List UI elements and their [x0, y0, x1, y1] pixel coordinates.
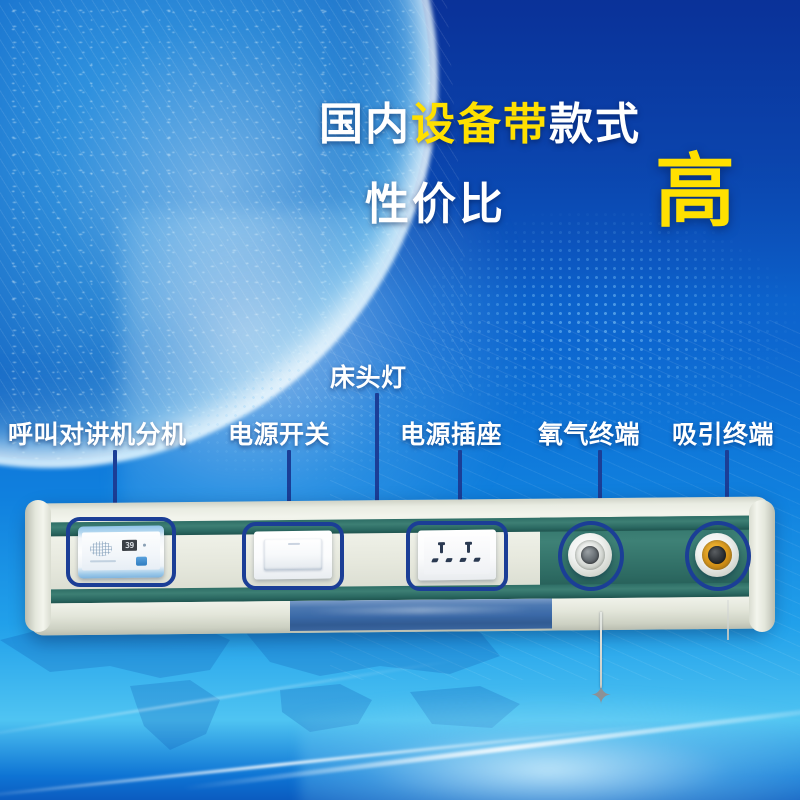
- callout-label-power-switch: 电源开关: [228, 415, 330, 451]
- panel-end-cap-right: [749, 500, 775, 632]
- headline-part-2-highlight: 设备带: [411, 99, 549, 150]
- halftone-dots-left: [150, 330, 450, 490]
- callout-label-bed-lamp: 床头灯: [330, 358, 407, 394]
- banner-stage: 国内设备带款式 性价比 高 呼叫对讲机分机 电源开关 床头灯 电源插座 氧气终端…: [0, 0, 800, 800]
- headline-line-1: 国内设备带款式: [280, 88, 680, 152]
- panel-end-cap-left: [25, 500, 51, 632]
- callout-label-oxygen-terminal: 氧气终端: [538, 415, 640, 451]
- highlight-circle-oxygen-terminal: [558, 521, 624, 591]
- highlight-box-intercom: [66, 517, 176, 587]
- headline-line-2: 性价比: [365, 168, 506, 232]
- callout-label-power-socket: 电源插座: [400, 415, 502, 451]
- suction-drain-tube: [727, 600, 729, 640]
- headline-part-1: 国内: [319, 99, 411, 150]
- headline-part-3: 款式: [549, 99, 641, 150]
- pull-cord-handle-icon[interactable]: ✦: [588, 682, 614, 708]
- highlight-box-power-switch: [242, 522, 344, 590]
- callout-label-suction-terminal: 吸引终端: [672, 415, 774, 451]
- headline-big-word: 高: [655, 152, 735, 232]
- bed-lamp-strip[interactable]: [290, 599, 552, 632]
- callout-label-intercom: 呼叫对讲机分机: [8, 415, 187, 451]
- highlight-box-power-socket: [406, 521, 508, 591]
- pull-cord[interactable]: [600, 612, 602, 688]
- highlight-circle-suction-terminal: [685, 521, 751, 591]
